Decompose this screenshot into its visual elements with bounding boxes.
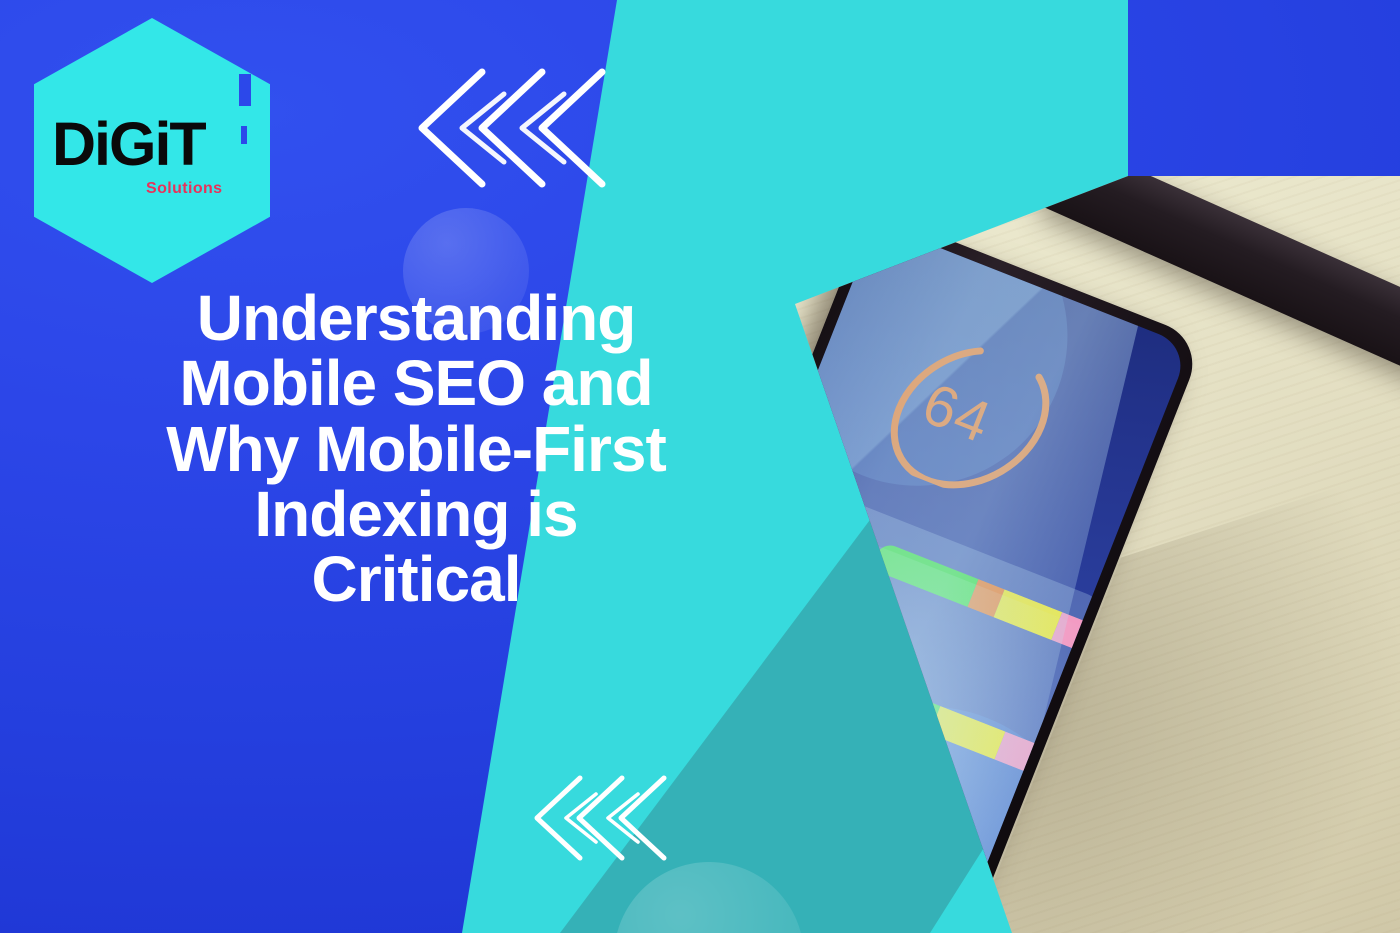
logo-wordmark: DiGiT xyxy=(52,114,254,175)
blog-banner-canvas: 64 LCP FID CLS xyxy=(0,0,1400,933)
logo-tagline: Solutions xyxy=(146,180,222,198)
metric-bar-segment xyxy=(994,589,1062,639)
chevron-left-group-top xyxy=(404,58,614,198)
logo-accent-tick xyxy=(241,126,247,144)
brand-logo[interactable]: DiGiT Solutions xyxy=(34,18,270,283)
chevron-left-group-bottom xyxy=(524,768,674,868)
logo-accent-bar xyxy=(239,74,251,106)
page-title: Understanding Mobile SEO and Why Mobile-… xyxy=(66,286,766,612)
